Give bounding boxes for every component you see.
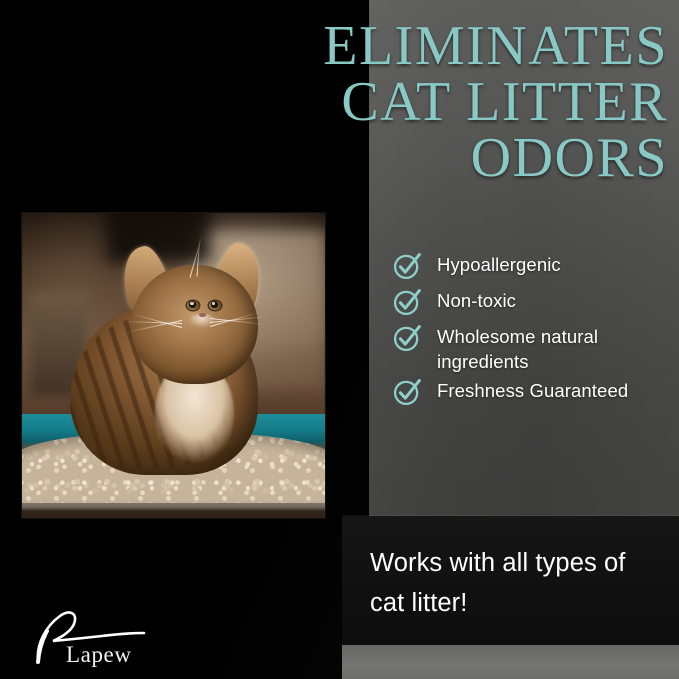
kitten-eye-right (209, 301, 221, 311)
headline-line-1: ELIMINATES (248, 18, 668, 74)
list-item: Non-toxic (392, 286, 672, 320)
caption-text: Works with all types of cat litter! (370, 543, 660, 623)
check-circle-icon (392, 287, 422, 317)
check-circle-icon (392, 323, 422, 353)
list-item: Freshness Guaranteed (392, 376, 672, 410)
caption-box: Works with all types of cat litter! (342, 516, 679, 645)
headline: ELIMINATES CAT LITTER ODORS (248, 18, 668, 186)
list-item: Hypoallergenic (392, 250, 672, 284)
background-bottom-strip (342, 645, 679, 679)
kitten-eye-left (187, 301, 199, 311)
brand-logo: Lapew (26, 600, 176, 670)
product-marketing-image: ELIMINATES CAT LITTER ODORS (0, 0, 679, 679)
brand-name: Lapew (66, 642, 132, 668)
kitten-litter-box-photo (22, 213, 325, 518)
headline-line-3: ODORS (248, 130, 668, 186)
headline-line-2: CAT LITTER (248, 74, 668, 130)
list-item: Wholesome natural ingredients (392, 322, 672, 374)
feature-list: Hypoallergenic Non-toxic Wholesome natur… (392, 250, 672, 412)
list-item-label: Non-toxic (437, 286, 516, 313)
check-circle-icon (392, 377, 422, 407)
photo-scene (22, 213, 325, 518)
list-item-label: Wholesome natural ingredients (437, 322, 672, 374)
photo-background-shadow (107, 213, 210, 262)
check-circle-icon (392, 251, 422, 281)
kitten-head (131, 265, 258, 384)
list-item-label: Hypoallergenic (437, 250, 561, 277)
list-item-label: Freshness Guaranteed (437, 376, 628, 403)
